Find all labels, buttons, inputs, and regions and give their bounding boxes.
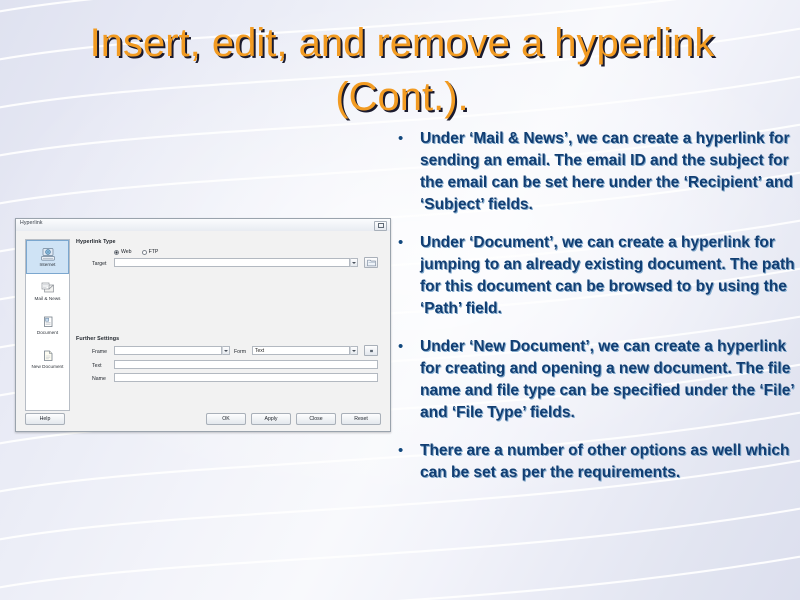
text-label: Text bbox=[92, 363, 102, 369]
reset-button[interactable]: Reset bbox=[341, 413, 381, 425]
radio-ftp[interactable]: FTP bbox=[142, 249, 159, 255]
radio-web[interactable]: Web bbox=[114, 249, 132, 255]
dialog-footer: Help OK Apply Close Reset bbox=[25, 413, 381, 425]
further-settings-group-label: Further Settings bbox=[76, 336, 119, 342]
page-title: Insert, edit, and remove a hyperlink (Co… bbox=[60, 16, 744, 124]
slide-canvas: Insert, edit, and remove a hyperlink (Co… bbox=[0, 0, 800, 600]
dialog-title: Hyperlink bbox=[20, 220, 43, 226]
list-item: • Under ‘New Document’, we can create a … bbox=[392, 336, 800, 424]
document-icon bbox=[40, 316, 56, 329]
form-label: Form bbox=[234, 349, 246, 355]
list-item: • Under ‘Document’, we can create a hype… bbox=[392, 232, 800, 320]
sidebar-item-label: Document bbox=[37, 330, 58, 335]
list-item: • Under ‘Mail & News’, we can create a h… bbox=[392, 128, 800, 216]
sidebar-item-document[interactable]: Document bbox=[26, 308, 69, 342]
mail-news-icon bbox=[40, 282, 56, 295]
new-document-icon bbox=[40, 350, 56, 363]
bullet-marker: • bbox=[392, 440, 420, 462]
open-folder-icon[interactable] bbox=[364, 257, 378, 268]
bullet-text: Under ‘Document’, we can create a hyperl… bbox=[420, 232, 800, 320]
target-dropdown-arrow[interactable] bbox=[350, 258, 358, 267]
dialog-body: Internet Mail & News bbox=[16, 231, 390, 431]
hyperlink-type-group-label: Hyperlink Type bbox=[76, 239, 116, 245]
radio-dot-ftp bbox=[142, 250, 147, 255]
restore-icon[interactable] bbox=[374, 221, 387, 231]
form-dropdown-arrow[interactable] bbox=[350, 346, 358, 355]
frame-input[interactable] bbox=[114, 346, 222, 355]
dialog-content-pane: Hyperlink Type Web FTP Target bbox=[76, 237, 382, 423]
bullet-marker: • bbox=[392, 128, 420, 150]
text-input[interactable] bbox=[114, 360, 378, 369]
list-item: • There are a number of other options as… bbox=[392, 440, 800, 484]
sidebar-item-new-document[interactable]: New Document bbox=[26, 342, 69, 376]
dialog-sidebar: Internet Mail & News bbox=[25, 239, 70, 411]
name-input[interactable] bbox=[114, 373, 378, 382]
target-label: Target bbox=[92, 261, 106, 267]
name-label: Name bbox=[92, 376, 106, 382]
close-button[interactable]: Close bbox=[296, 413, 336, 425]
sidebar-item-label: New Document bbox=[31, 364, 63, 369]
ok-button[interactable]: OK bbox=[206, 413, 246, 425]
bullet-marker: • bbox=[392, 336, 420, 358]
bullet-list: • Under ‘Mail & News’, we can create a h… bbox=[392, 128, 800, 500]
bullet-text: Under ‘Mail & News’, we can create a hyp… bbox=[420, 128, 800, 216]
target-input[interactable] bbox=[114, 258, 350, 267]
footer-button-group: OK Apply Close Reset bbox=[206, 413, 381, 425]
help-button[interactable]: Help bbox=[25, 413, 65, 425]
bullet-text: Under ‘New Document’, we can create a hy… bbox=[420, 336, 800, 424]
internet-globe-icon bbox=[40, 248, 56, 261]
radio-dot-web bbox=[114, 250, 119, 255]
hyperlink-dialog-image: Hyperlink Internet bbox=[15, 218, 391, 432]
sidebar-item-mail-and-news[interactable]: Mail & News bbox=[26, 274, 69, 308]
sidebar-item-label: Internet bbox=[40, 262, 56, 267]
frame-label: Frame bbox=[92, 349, 107, 355]
bullet-text: There are a number of other options as w… bbox=[420, 440, 800, 484]
apply-button[interactable]: Apply bbox=[251, 413, 291, 425]
sidebar-item-label: Mail & News bbox=[34, 296, 60, 301]
radio-label-ftp: FTP bbox=[149, 249, 159, 255]
form-input[interactable]: Text bbox=[252, 346, 350, 355]
bullet-marker: • bbox=[392, 232, 420, 254]
events-icon[interactable] bbox=[364, 345, 378, 356]
sidebar-item-internet[interactable]: Internet bbox=[26, 240, 69, 274]
hyperlink-type-radio-group: Web FTP bbox=[114, 249, 168, 255]
open-folder-glyph bbox=[367, 259, 376, 267]
events-glyph bbox=[368, 348, 375, 354]
radio-label-web: Web bbox=[121, 249, 132, 255]
frame-dropdown-arrow[interactable] bbox=[222, 346, 230, 355]
